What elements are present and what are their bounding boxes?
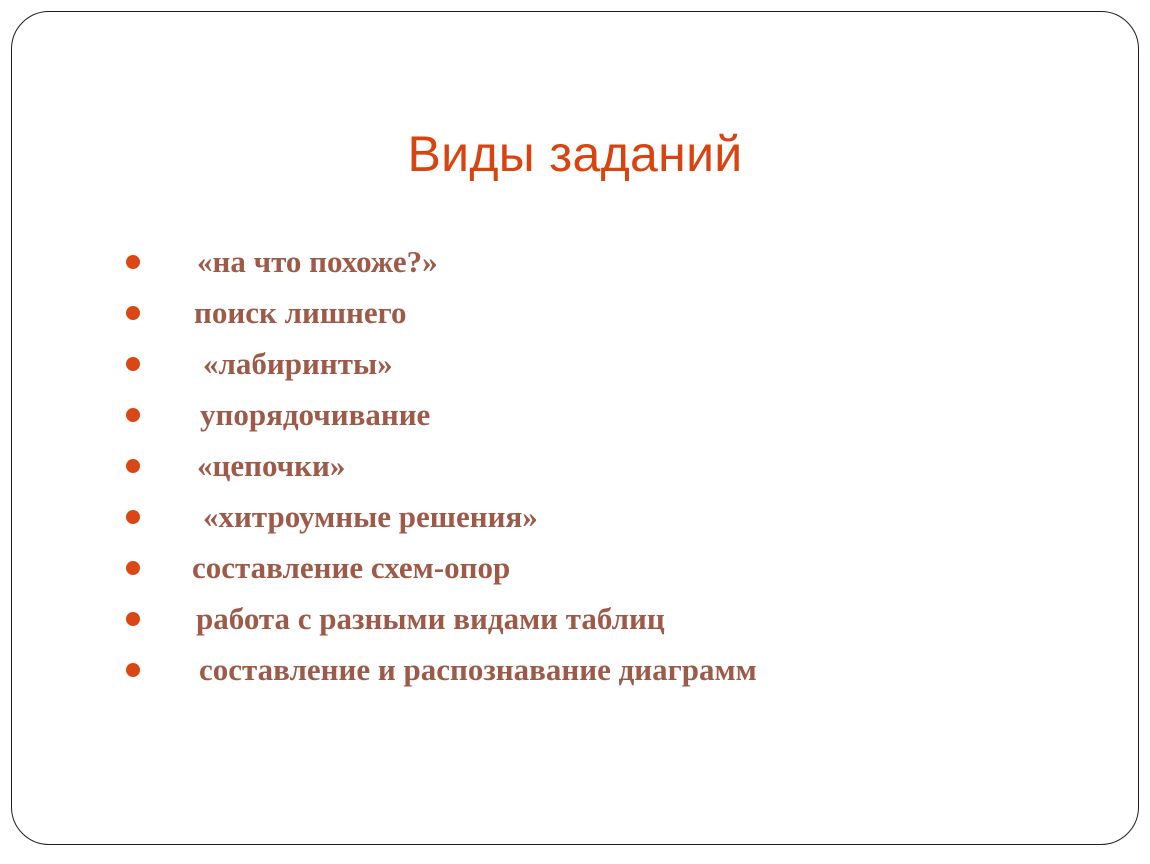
bullet-dot-icon [126, 408, 140, 422]
bullet-list: «на что похоже?» поиск лишнего «лабиринт… [0, 236, 1150, 695]
list-item-label: «лабиринты» [203, 348, 393, 379]
bullet-dot-icon [126, 255, 140, 269]
list-item-label: упорядочивание [200, 399, 430, 430]
page-title: Виды заданий [0, 128, 1150, 181]
list-item: «хитроумные решения» [0, 491, 1150, 542]
bullet-dot-icon [126, 663, 140, 677]
list-item-label: «цепочки» [197, 450, 345, 481]
bullet-dot-icon [126, 612, 140, 626]
list-item-label: работа с разными видами таблиц [196, 603, 665, 634]
list-item-label: поиск лишнего [194, 297, 406, 328]
list-item: «на что похоже?» [0, 236, 1150, 287]
slide: Виды заданий «на что похоже?» поиск лишн… [0, 0, 1150, 864]
list-item: «цепочки» [0, 440, 1150, 491]
bullet-dot-icon [126, 306, 140, 320]
bullet-dot-icon [126, 561, 140, 575]
list-item: составление схем-опор [0, 542, 1150, 593]
bullet-dot-icon [126, 510, 140, 524]
list-item: «лабиринты» [0, 338, 1150, 389]
bullet-dot-icon [126, 357, 140, 371]
list-item-label: «хитроумные решения» [203, 501, 538, 532]
list-item-label: составление схем-опор [192, 552, 510, 583]
bullet-dot-icon [126, 459, 140, 473]
list-item: работа с разными видами таблиц [0, 593, 1150, 644]
list-item-label: составление и распознавание диаграмм [199, 654, 757, 685]
list-item-label: «на что похоже?» [197, 246, 438, 277]
list-item: упорядочивание [0, 389, 1150, 440]
list-item: составление и распознавание диаграмм [0, 644, 1150, 695]
list-item: поиск лишнего [0, 287, 1150, 338]
